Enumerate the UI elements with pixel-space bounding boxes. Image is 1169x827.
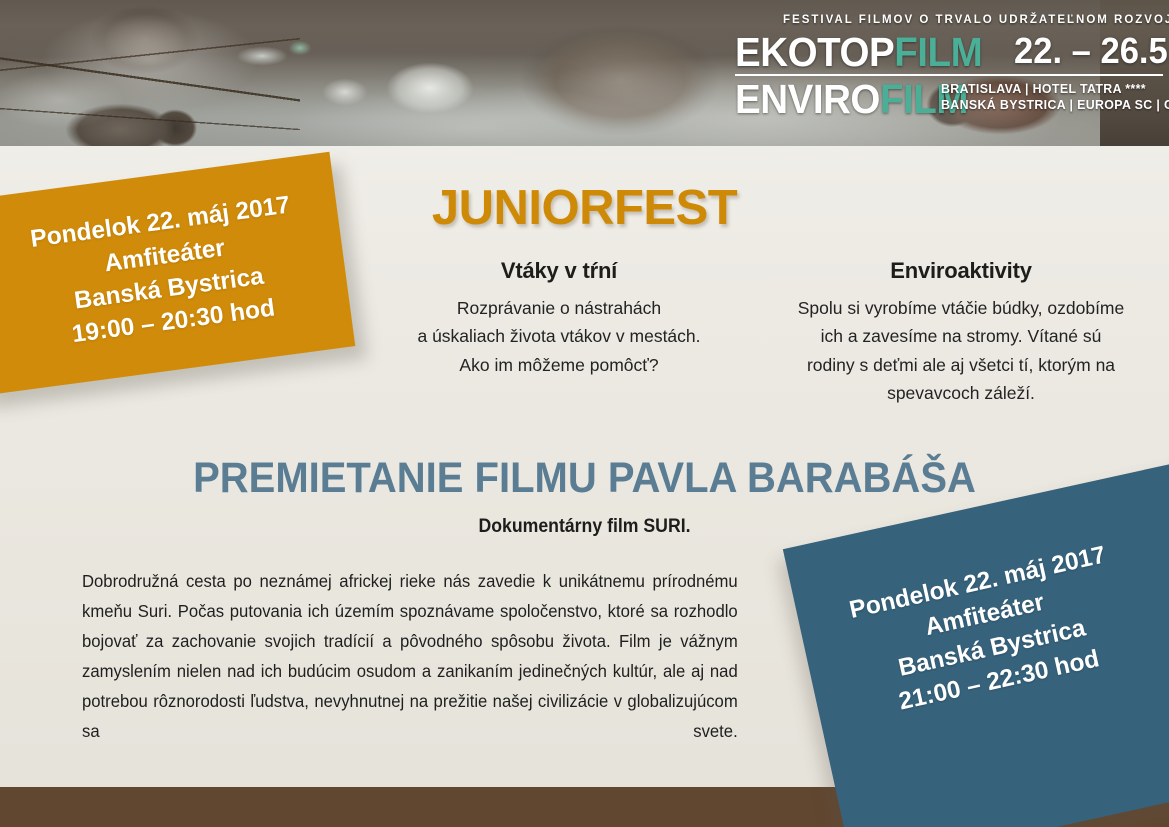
logo-ekotopfilm-wordmark: EKOTOPFILM xyxy=(735,32,982,72)
logo-row-ekotopfilm: EKOTOPFILM 22. – 26.5.2017 xyxy=(735,30,1163,72)
body-line: ich a zavesíme na stromy. Vítané sú xyxy=(772,322,1150,350)
body-line: Spolu si vyrobíme vtáčie búdky, ozdobíme xyxy=(772,294,1150,322)
column-title: Enviroaktivity xyxy=(772,258,1150,284)
body-line: a úskaliach života vtákov v mestách. xyxy=(370,322,748,350)
festival-logo-block: FESTIVAL FILMOV O TRVALO UDRŽATEĽNOM ROZ… xyxy=(735,14,1163,113)
body-line: Rozprávanie o nástrahách xyxy=(370,294,748,322)
logo-rows: EKOTOPFILM 22. – 26.5.2017 ENVIROFILM BR… xyxy=(735,30,1163,113)
festival-dates: 22. – 26.5.2017 xyxy=(1014,30,1169,72)
venue-line-1: BRATISLAVA | HOTEL TATRA **** xyxy=(941,81,1152,97)
film-screening-heading: PREMIETANIE FILMU PAVLA BARABÁŠA xyxy=(41,454,1128,503)
program-column-vtaky-v-trni: Vtáky v tŕní Rozprávanie o nástrahách a … xyxy=(370,258,748,407)
program-column-enviroaktivity: Enviroaktivity Spolu si vyrobíme vtáčie … xyxy=(772,258,1150,407)
festival-tagline: FESTIVAL FILMOV O TRVALO UDRŽATEĽNOM ROZ… xyxy=(783,14,1163,26)
film-description-paragraph: Dobrodružná cesta po neznámej africkej r… xyxy=(82,566,738,777)
festival-venues: BRATISLAVA | HOTEL TATRA **** BANSKÁ BYS… xyxy=(941,81,1152,113)
venue-line-2: BANSKÁ BYSTRICA | EUROPA SC | CINEMAX xyxy=(941,97,1152,113)
orange-card-text: Pondelok 22. máj 2017 Amfiteáter Banská … xyxy=(3,189,306,359)
body-line: spevavcoch záleží. xyxy=(772,379,1150,407)
logo-enviro-text: ENVIRO xyxy=(735,76,880,122)
column-title: Vtáky v tŕní xyxy=(370,258,748,284)
logo-film-text-1: FILM xyxy=(894,29,982,75)
body-line: rodiny s deťmi ale aj všetci tí, ktorým … xyxy=(772,351,1150,379)
blue-card-text: Pondelok 22. máj 2017 Amfiteáter Banská … xyxy=(813,531,1164,732)
logo-envirofilm-wordmark: ENVIROFILM xyxy=(735,79,968,119)
program-columns: Vtáky v tŕní Rozprávanie o nástrahách a … xyxy=(370,258,1150,407)
column-body: Rozprávanie o nástrahách a úskaliach živ… xyxy=(370,294,748,379)
logo-ekotop-text: EKOTOP xyxy=(735,29,894,75)
header-photo-banner: FESTIVAL FILMOV O TRVALO UDRŽATEĽNOM ROZ… xyxy=(0,0,1169,146)
poster-root: FESTIVAL FILMOV O TRVALO UDRŽATEĽNOM ROZ… xyxy=(0,0,1169,827)
column-body: Spolu si vyrobíme vtáčie búdky, ozdobíme… xyxy=(772,294,1150,407)
body-line: Ako im môžeme pomôcť? xyxy=(370,351,748,379)
